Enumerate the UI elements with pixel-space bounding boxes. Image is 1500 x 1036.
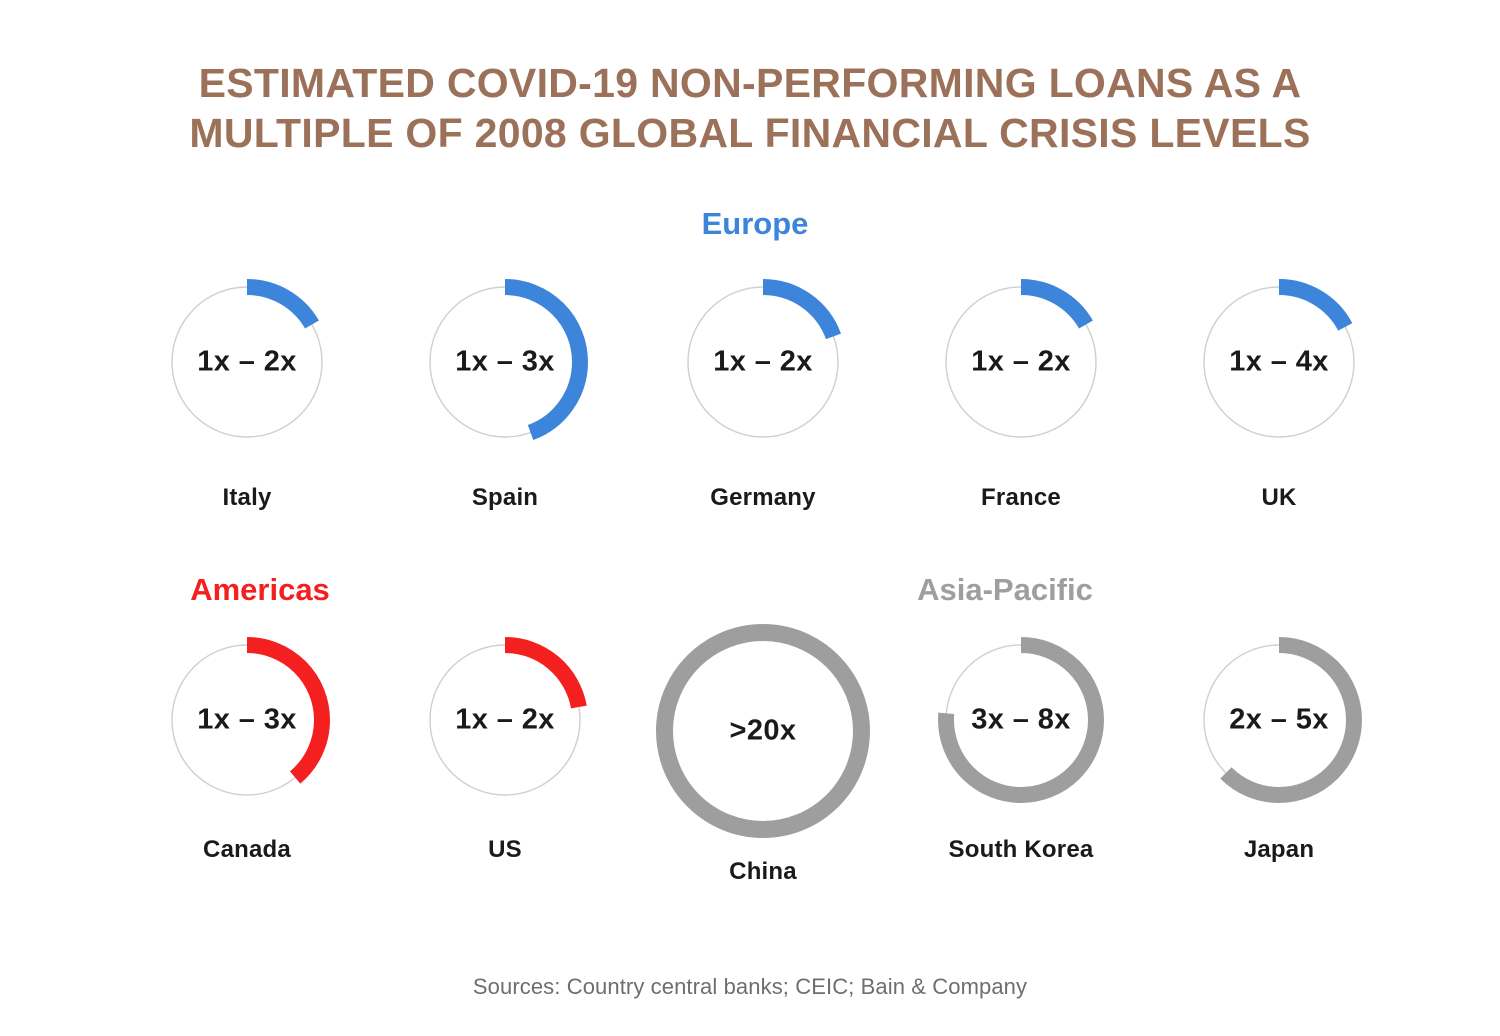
gauge-ring-canada: 1x – 3x (149, 622, 345, 818)
gauge-arc (665, 633, 862, 830)
gauge-ring-uk: 1x – 4x (1181, 264, 1377, 460)
gauge-ring-spain: 1x – 3x (407, 264, 603, 460)
gauge-spain[interactable]: 1x – 3xSpain (376, 264, 634, 512)
region-heading-americas: Americas (190, 572, 330, 607)
gauge-label-south-korea: South Korea (949, 836, 1094, 864)
region-heading-asia: Asia-Pacific (917, 572, 1093, 607)
row2-heading-row: Americas Asia-Pacific (0, 572, 1500, 612)
gauge-ring-italy: 1x – 2x (149, 264, 345, 460)
page-title-line-2: MULTIPLE OF 2008 GLOBAL FINANCIAL CRISIS… (0, 108, 1500, 158)
gauge-arc (172, 645, 322, 795)
gauge-arc (172, 287, 322, 437)
gauge-italy[interactable]: 1x – 2xItaly (118, 264, 376, 512)
page-title-line-1: ESTIMATED COVID-19 NON-PERFORMING LOANS … (0, 58, 1500, 108)
gauge-label-spain: Spain (472, 484, 538, 512)
region-heading-europe: Europe (702, 206, 809, 241)
gauge-south-korea[interactable]: 3x – 8xSouth Korea (892, 622, 1150, 864)
gauge-arc (1204, 287, 1354, 437)
gauge-france[interactable]: 1x – 2xFrance (892, 264, 1150, 512)
gauge-ring-south-korea: 3x – 8x (923, 622, 1119, 818)
gauge-label-germany: Germany (710, 484, 815, 512)
gauge-label-canada: Canada (203, 836, 291, 864)
gauge-label-us: US (488, 836, 522, 864)
gauge-arc (1204, 645, 1354, 795)
gauge-ring-germany: 1x – 2x (665, 264, 861, 460)
gauge-ring-france: 1x – 2x (923, 264, 1119, 460)
asia-heading-wrap: Asia-Pacific (640, 572, 1370, 608)
gauge-japan[interactable]: 2x – 5xJapan (1150, 622, 1408, 864)
gauge-label-france: France (981, 484, 1061, 512)
gauge-arc (946, 645, 1096, 795)
page-title: ESTIMATED COVID-19 NON-PERFORMING LOANS … (0, 0, 1500, 158)
gauge-label-japan: Japan (1244, 836, 1314, 864)
sources-note: Sources: Country central banks; CEIC; Ba… (0, 974, 1500, 1000)
gauge-us[interactable]: 1x – 2xUS (376, 622, 634, 864)
gauge-label-china: China (729, 858, 797, 886)
americas-heading-wrap: Americas (0, 572, 520, 608)
europe-heading-row: Europe (0, 206, 1500, 242)
gauge-china[interactable]: >20xChina (634, 622, 892, 886)
gauge-ring-japan: 2x – 5x (1181, 622, 1377, 818)
gauge-label-italy: Italy (222, 484, 271, 512)
gauge-arc (688, 287, 838, 437)
gauge-uk[interactable]: 1x – 4xUK (1150, 264, 1408, 512)
gauge-label-uk: UK (1261, 484, 1296, 512)
infographic-page: ESTIMATED COVID-19 NON-PERFORMING LOANS … (0, 0, 1500, 1036)
gauge-row-europe: 1x – 2xItaly1x – 3xSpain1x – 2xGermany1x… (0, 264, 1500, 512)
gauge-row-americas-asia: 1x – 3xCanada1x – 2xUS>20xChina3x – 8xSo… (0, 622, 1500, 886)
gauge-canada[interactable]: 1x – 3xCanada (118, 622, 376, 864)
gauge-arc (946, 287, 1096, 437)
gauge-germany[interactable]: 1x – 2xGermany (634, 264, 892, 512)
gauge-arc (430, 287, 580, 437)
gauge-ring-us: 1x – 2x (407, 622, 603, 818)
gauge-ring-china: >20x (654, 622, 872, 840)
gauge-arc (430, 645, 580, 795)
